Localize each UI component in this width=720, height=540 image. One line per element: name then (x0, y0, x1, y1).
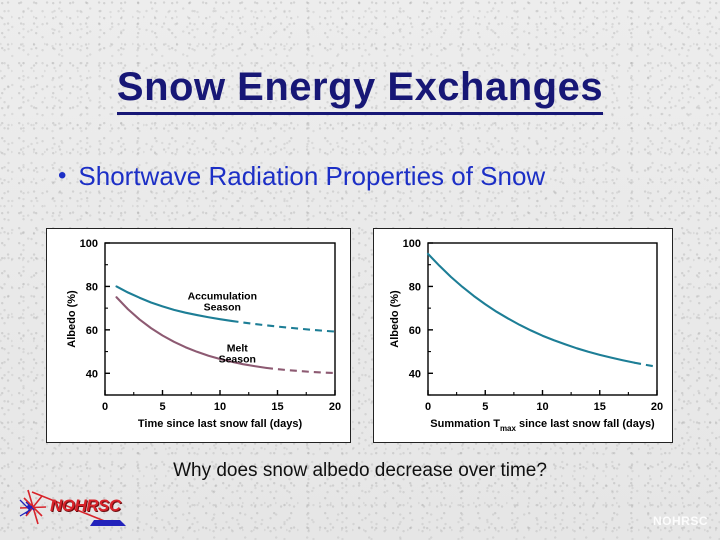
y-tick-label: 60 (409, 325, 421, 337)
x-tick-label: 5 (482, 401, 488, 413)
y-axis-title: Albedo (%) (66, 290, 78, 348)
series-annotation: Season (219, 354, 256, 366)
albedo-vs-summation-tmax-chart: 05101520406080100Albedo (%)Summation Tma… (374, 229, 672, 442)
chart-panel-right: 05101520406080100Albedo (%)Summation Tma… (373, 228, 673, 443)
y-tick-label: 40 (86, 368, 98, 380)
slide-caption: Why does snow albedo decrease over time? (0, 460, 720, 482)
x-axis-title: Time since last snow fall (days) (138, 418, 303, 430)
nohrsc-logo: NOHRSC (16, 486, 140, 534)
x-axis-title: Summation Tmax since last snow fall (day… (430, 418, 655, 433)
series-annotation: Season (204, 301, 241, 313)
y-tick-label: 80 (86, 281, 98, 293)
y-tick-label: 60 (86, 325, 98, 337)
y-tick-label: 80 (409, 281, 421, 293)
y-tick-label: 100 (80, 238, 98, 250)
x-tick-label: 10 (214, 401, 226, 413)
y-axis-title: Albedo (%) (389, 290, 401, 348)
bullet-item: • Shortwave Radiation Properties of Snow (58, 162, 698, 191)
y-tick-label: 100 (403, 238, 421, 250)
x-tick-label: 20 (329, 401, 341, 413)
chart-panel-left: 05101520406080100AccumulationSeasonMeltS… (46, 228, 351, 443)
x-tick-label: 10 (536, 401, 548, 413)
slide-canvas: Snow Energy Exchanges • Shortwave Radiat… (0, 0, 720, 540)
x-tick-label: 20 (651, 401, 663, 413)
bullet-item-label: Shortwave Radiation Properties of Snow (78, 162, 545, 191)
plot-frame (428, 243, 657, 395)
x-tick-label: 15 (594, 401, 606, 413)
y-tick-label: 40 (409, 368, 421, 380)
x-tick-label: 0 (425, 401, 431, 413)
corner-watermark: NOHRSC (653, 514, 708, 528)
bullet-marker-icon: • (58, 164, 66, 188)
x-tick-label: 5 (159, 401, 165, 413)
albedo-vs-time-chart: 05101520406080100AccumulationSeasonMeltS… (47, 229, 350, 442)
x-tick-label: 0 (102, 401, 108, 413)
page-title: Snow Energy Exchanges (117, 66, 603, 115)
x-tick-label: 15 (271, 401, 283, 413)
nohrsc-logo-text: NOHRSC (50, 496, 121, 516)
page-title-container: Snow Energy Exchanges (0, 66, 720, 115)
